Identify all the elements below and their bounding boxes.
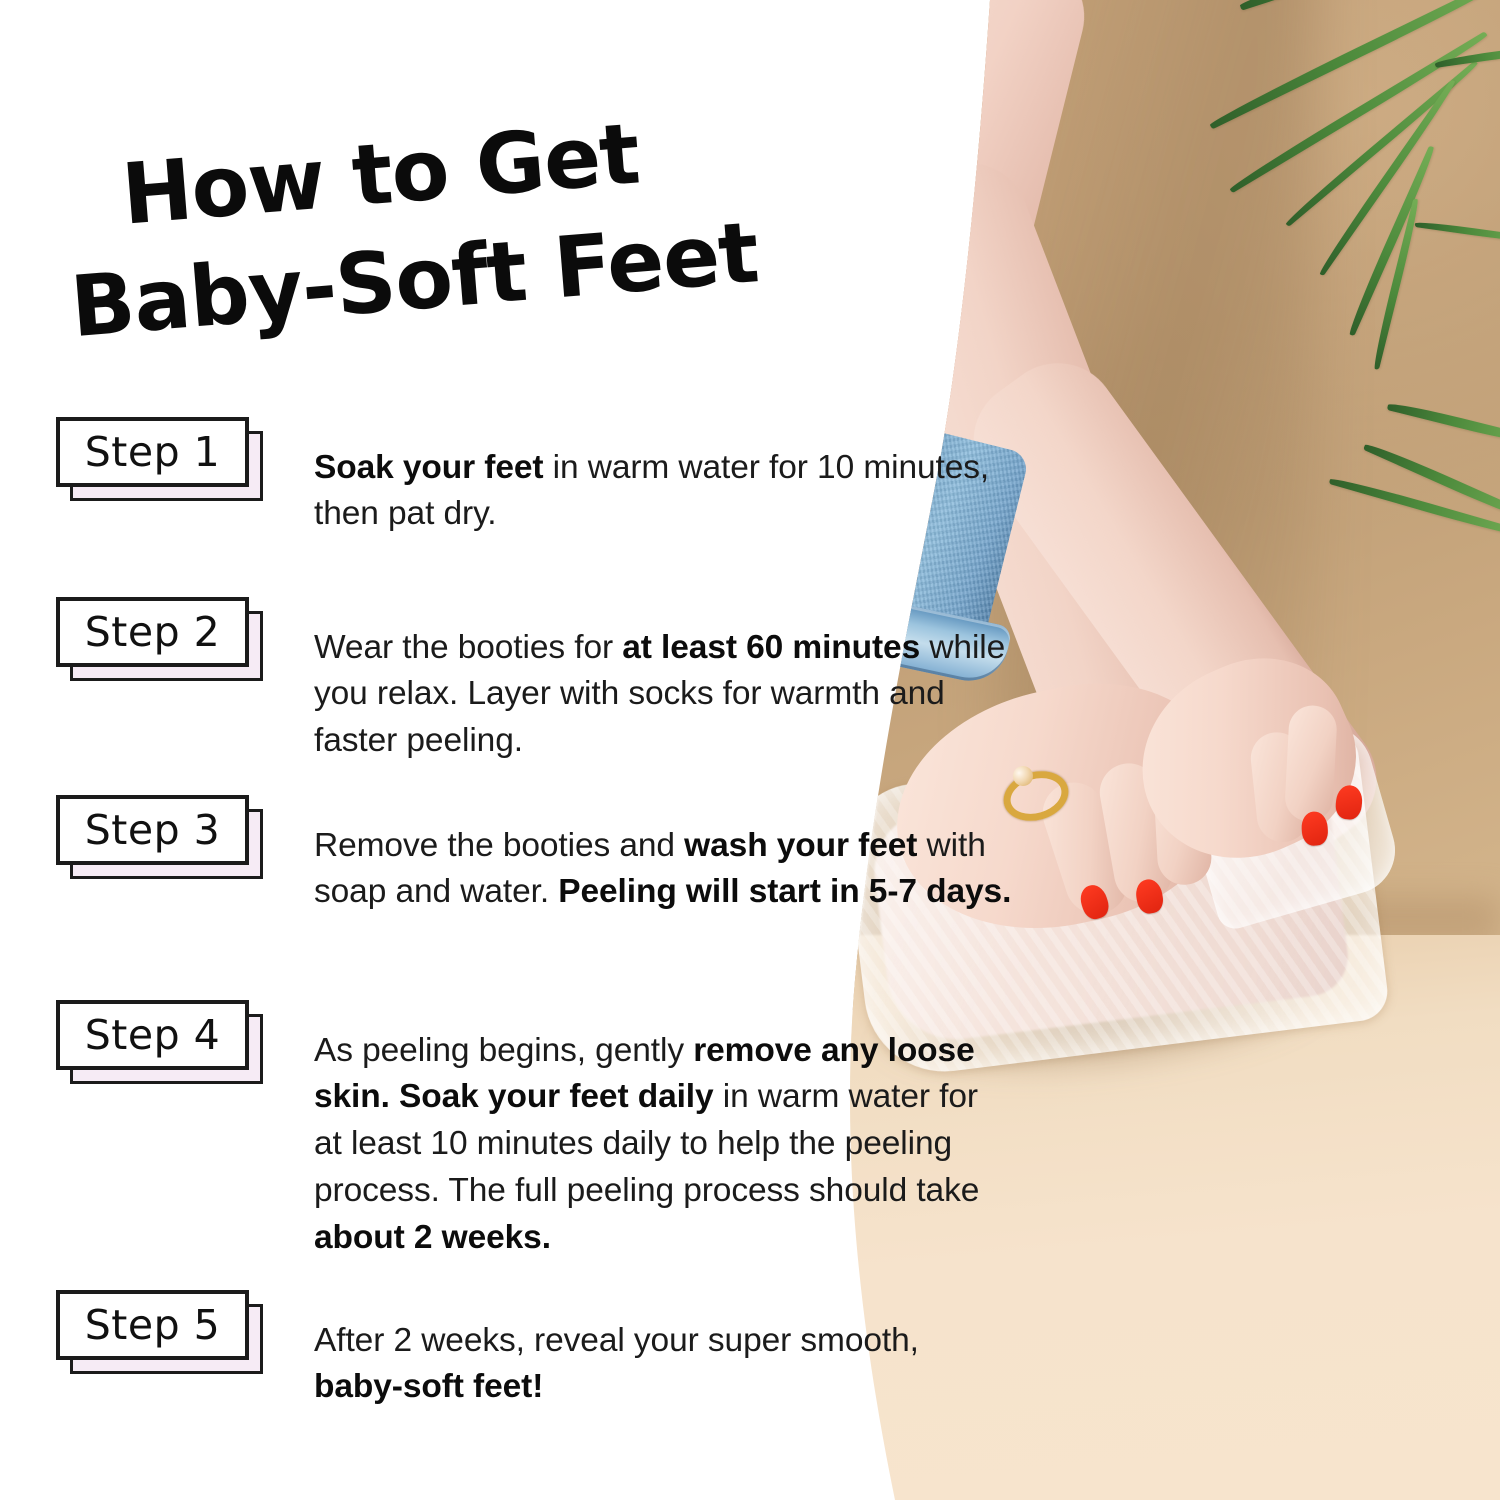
step-text-emphasis: Peeling will start in 5-7 days. [558,873,1011,910]
step-text-emphasis: Soak your feet [314,449,543,486]
step-badge-face: Step 4 [56,1000,249,1070]
step-text-plain: As peeling begins, gently [314,1032,693,1069]
step-badge-2: Step 2 [56,597,249,667]
step-badge-label: Step 4 [85,1015,220,1056]
step-badge-4: Step 4 [56,1000,249,1070]
steps-list: Step 1Soak your feet in warm water for 1… [0,0,1000,1500]
step-badge-1: Step 1 [56,417,249,487]
step-badge-label: Step 1 [85,432,220,473]
step-text-emphasis: at least 60 minutes [622,629,920,666]
step-text-emphasis: baby-soft feet! [314,1368,543,1405]
grass-leaves [1200,0,1500,590]
step-badge-face: Step 3 [56,795,249,865]
step-description: Remove the booties and wash your feet wi… [314,823,1014,917]
step-description: Wear the booties for at least 60 minutes… [314,625,1014,766]
step-text-plain: Wear the booties for [314,629,622,666]
step-badge-5: Step 5 [56,1290,249,1360]
step-badge-face: Step 5 [56,1290,249,1360]
step-text-plain: Remove the booties and [314,827,684,864]
infographic-canvas: How to Get Baby-Soft Feet Step 1Soak you… [0,0,1500,1500]
step-description: As peeling begins, gently remove any loo… [314,1028,1014,1262]
step-badge-face: Step 1 [56,417,249,487]
step-badge-label: Step 3 [85,810,220,851]
step-badge-face: Step 2 [56,597,249,667]
step-text-emphasis: about 2 weeks. [314,1219,551,1256]
step-text-plain: After 2 weeks, reveal your super smooth, [314,1322,919,1359]
step-badge-label: Step 2 [85,612,220,653]
step-badge-3: Step 3 [56,795,249,865]
step-text-emphasis: wash your feet [684,827,917,864]
step-badge-label: Step 5 [85,1305,220,1346]
step-description: Soak your feet in warm water for 10 minu… [314,445,1014,539]
step-description: After 2 weeks, reveal your super smooth,… [314,1318,1014,1412]
